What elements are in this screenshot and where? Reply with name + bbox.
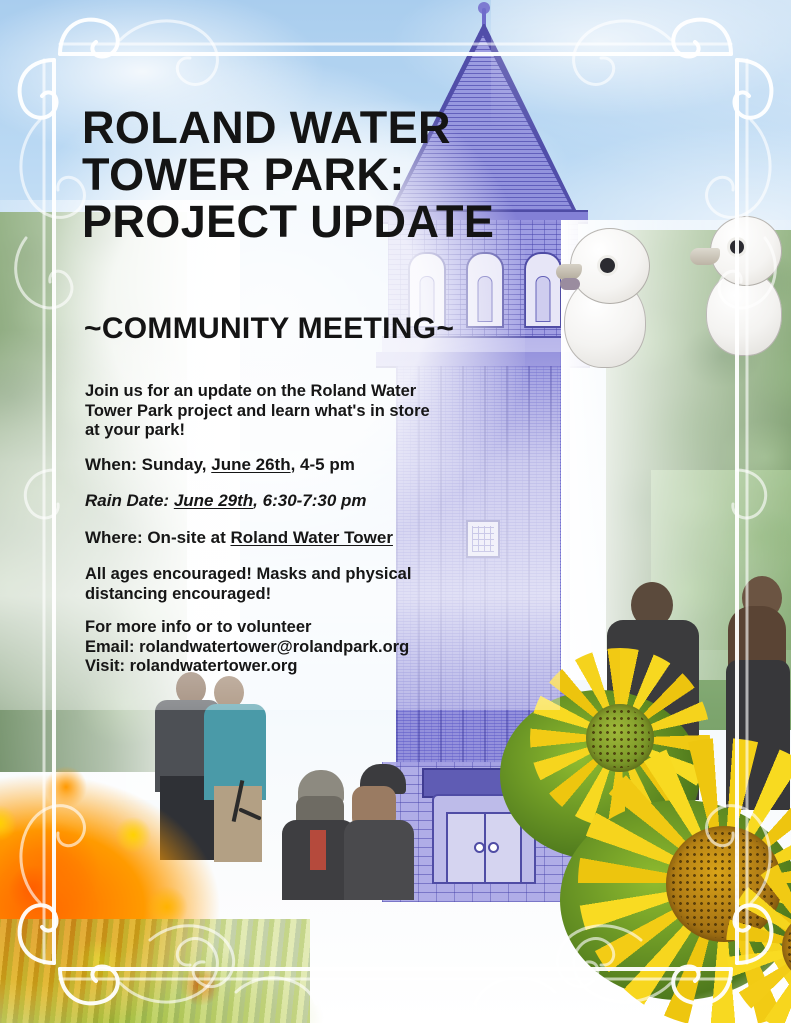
when-label: When: Sunday, <box>85 455 207 474</box>
intro-line-2: Tower Park project and learn what's in s… <box>85 402 465 422</box>
page-title: ROLAND WATER TOWER PARK: PROJECT UPDATE <box>82 104 552 245</box>
poster-text-content: ROLAND WATER TOWER PARK: PROJECT UPDATE … <box>0 0 791 1023</box>
intro-line-3: at your park! <box>85 421 465 441</box>
title-line-2: TOWER PARK: <box>82 151 552 198</box>
where-place: Roland Water Tower <box>230 528 392 547</box>
intro-paragraph: Join us for an update on the Roland Wate… <box>85 382 465 441</box>
rain-date: June 29th <box>174 491 253 510</box>
rain-time: , 6:30-7:30 pm <box>253 491 366 510</box>
title-line-3: PROJECT UPDATE <box>82 198 552 245</box>
title-line-1: ROLAND WATER <box>82 104 552 151</box>
rain-date-line: Rain Date: June 29th, 6:30-7:30 pm <box>85 491 367 511</box>
poster-canvas: ROLAND WATER TOWER PARK: PROJECT UPDATE … <box>0 0 791 1023</box>
ages-line-1: All ages encouraged! Masks and physical <box>85 565 465 585</box>
subtitle: ~COMMUNITY MEETING~ <box>84 312 454 346</box>
when-time: , 4-5 pm <box>291 455 355 474</box>
contact-line-1: For more info or to volunteer <box>85 618 485 638</box>
when-date: June 26th <box>211 455 290 474</box>
ages-paragraph: All ages encouraged! Masks and physical … <box>85 565 465 604</box>
rain-label: Rain Date: <box>85 491 169 510</box>
contact-website[interactable]: Visit: rolandwatertower.org <box>85 657 485 677</box>
ages-line-2: distancing encouraged! <box>85 585 465 605</box>
intro-line-1: Join us for an update on the Roland Wate… <box>85 382 465 402</box>
where-label: Where: On-site at <box>85 528 226 547</box>
where-line: Where: On-site at Roland Water Tower <box>85 528 393 548</box>
contact-paragraph: For more info or to volunteer Email: rol… <box>85 618 485 677</box>
when-line: When: Sunday, June 26th, 4-5 pm <box>85 455 355 475</box>
contact-email[interactable]: Email: rolandwatertower@rolandpark.org <box>85 638 485 658</box>
